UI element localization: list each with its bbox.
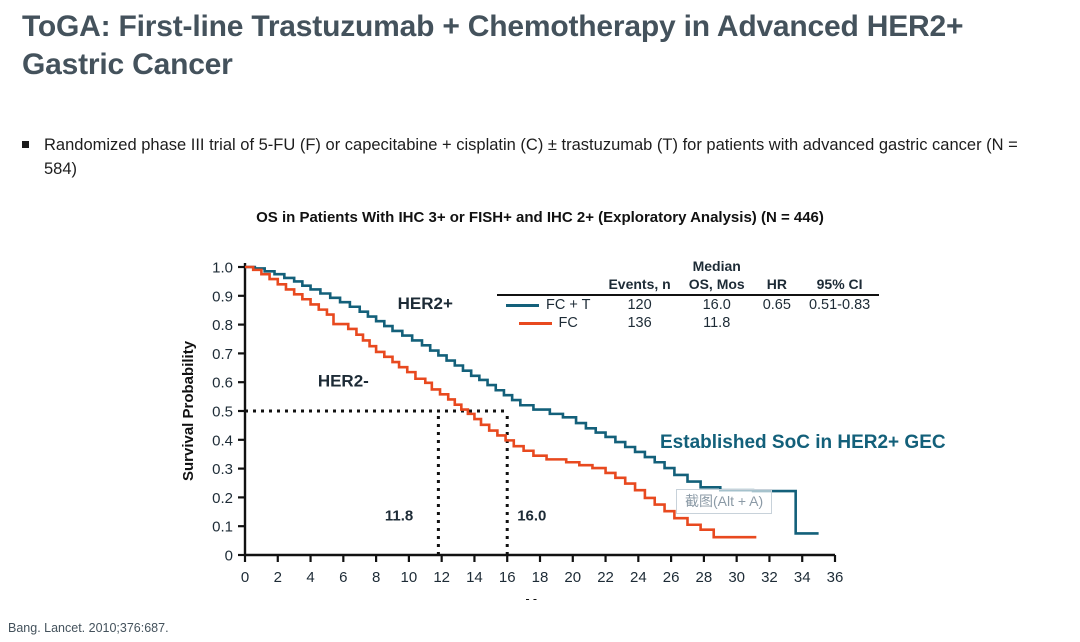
her2-positive-curve-label: HER2+	[398, 294, 453, 313]
median-fc-label: 11.8	[385, 507, 413, 524]
page-title: ToGA: First-line Trastuzumab + Chemother…	[22, 8, 1022, 84]
column-header-events: Events, n	[599, 276, 679, 295]
bullet-list: Randomized phase III trial of 5-FU (F) o…	[22, 133, 1062, 181]
x-axis-tick-label: 28	[696, 569, 713, 586]
x-axis-tick-label: 24	[630, 569, 647, 586]
x-axis-tick-label: 6	[339, 569, 347, 586]
citation-footer: Bang. Lancet. 2010;376:687.	[8, 621, 169, 635]
x-axis-tick-label: 14	[466, 569, 483, 586]
legend-statistics-table: Median Events, n OS, Mos HR 95% CI FC + …	[497, 258, 879, 332]
x-axis-tick-label: 36	[827, 569, 844, 586]
legend-hr-cell: 0.65	[754, 295, 800, 314]
spacer-cell	[497, 258, 599, 276]
y-axis-tick-label: 0.5	[212, 404, 233, 421]
legend-median-os-cell: 16.0	[680, 295, 754, 314]
column-header-ci: 95% CI	[800, 276, 879, 295]
x-axis-tick-label: 4	[306, 569, 314, 586]
column-header-median-os: OS, Mos	[680, 276, 754, 295]
spacer-cell	[800, 258, 879, 276]
x-axis-title: Mos	[525, 596, 555, 600]
legend-events-cell: 120	[599, 295, 679, 314]
y-axis-tick-label: 0.8	[212, 317, 233, 334]
x-axis-tick-label: 22	[597, 569, 614, 586]
median-fct-label: 16.0	[517, 507, 546, 524]
x-axis-tick-label: 2	[274, 569, 282, 586]
legend-ci-cell	[800, 314, 879, 332]
x-axis-tick-label: 0	[241, 569, 249, 586]
x-axis-tick-label: 34	[794, 569, 811, 586]
y-axis-tick-label: 0.4	[212, 432, 233, 449]
y-axis-tick-label: 0	[225, 548, 233, 565]
table-row: FC + T12016.00.650.51-0.83	[497, 295, 879, 314]
legend-line-swatch	[519, 322, 552, 325]
column-header-hr: HR	[754, 276, 800, 295]
legend-events-cell: 136	[599, 314, 679, 332]
y-axis-tick-label: 0.9	[212, 288, 233, 305]
stats-table-body: FC + T12016.00.650.51-0.83FC13611.8	[497, 295, 879, 332]
table-row: FC13611.8	[497, 314, 879, 332]
legend-line-swatch	[506, 304, 539, 307]
list-item: Randomized phase III trial of 5-FU (F) o…	[22, 133, 1062, 181]
y-axis-tick-label: 0.1	[212, 519, 233, 536]
legend-series-label: FC + T	[546, 297, 590, 313]
established-soc-callout: Established SoC in HER2+ GEC	[660, 432, 946, 454]
x-axis-tick-label: 32	[761, 569, 778, 586]
x-axis-tick-label: 18	[532, 569, 549, 586]
y-axis-tick-label: 0.3	[212, 461, 233, 478]
bullet-text: Randomized phase III trial of 5-FU (F) o…	[44, 133, 1054, 181]
column-header-series	[497, 276, 599, 295]
x-axis-tick-label: 8	[372, 569, 380, 586]
legend-series-label: FC	[559, 315, 578, 331]
y-axis-title: Survival Probability	[180, 340, 197, 481]
legend-hr-cell	[754, 314, 800, 332]
legend-series-cell: FC	[497, 314, 599, 332]
median-group-header: Median	[680, 258, 754, 276]
y-axis-tick-label: 0.7	[212, 346, 233, 363]
table-header-row: Events, n OS, Mos HR 95% CI	[497, 276, 879, 295]
her2-negative-curve-label: HER2-	[318, 372, 369, 391]
chart-title: OS in Patients With IHC 3+ or FISH+ and …	[0, 209, 1080, 226]
spacer-cell	[754, 258, 800, 276]
screenshot-tooltip-overlay[interactable]: 截图(Alt + A)	[676, 489, 772, 514]
legend-ci-cell: 0.51-0.83	[800, 295, 879, 314]
x-axis-tick-label: 10	[401, 569, 418, 586]
legend-median-os-cell: 11.8	[680, 314, 754, 332]
x-axis-tick-label: 12	[433, 569, 450, 586]
legend-series-cell: FC + T	[497, 295, 599, 314]
x-axis-tick-label: 20	[564, 569, 581, 586]
y-axis-tick-label: 1.0	[212, 260, 233, 277]
spacer-cell	[599, 258, 679, 276]
x-axis-tick-label: 16	[499, 569, 516, 586]
stats-table: Median Events, n OS, Mos HR 95% CI FC + …	[497, 258, 879, 332]
table-header-median-row: Median	[497, 258, 879, 276]
y-axis-tick-label: 0.6	[212, 375, 233, 392]
y-axis-tick-label: 0.2	[212, 490, 233, 507]
square-bullet-icon	[22, 141, 29, 148]
x-axis-tick-label: 30	[728, 569, 745, 586]
x-axis-tick-label: 26	[663, 569, 680, 586]
